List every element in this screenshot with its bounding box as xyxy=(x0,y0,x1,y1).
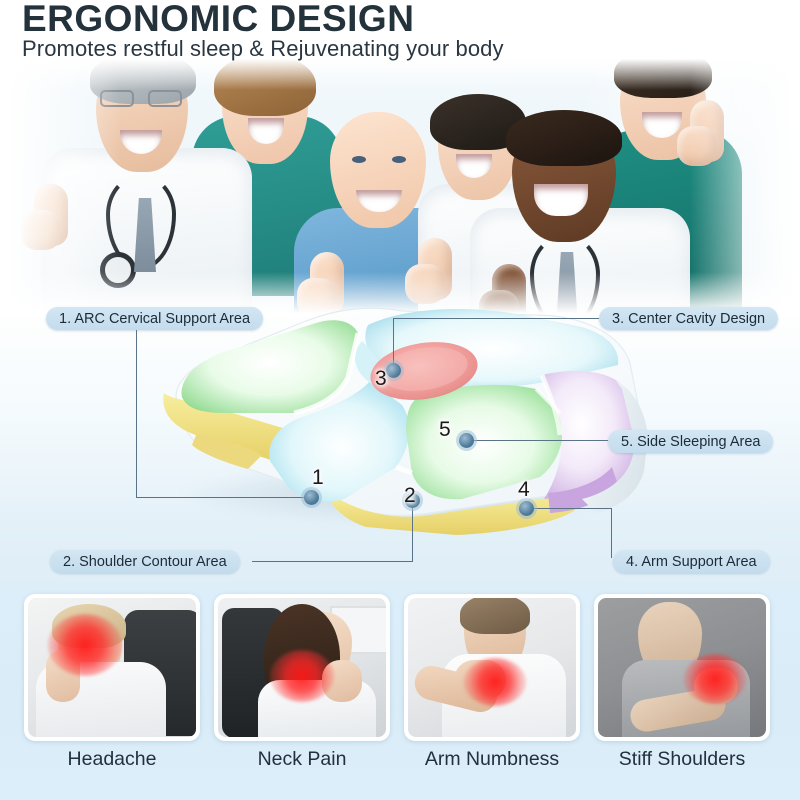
leader-4-vertical xyxy=(611,508,612,558)
marker-3-dot[interactable] xyxy=(386,363,401,378)
symptom-card-headache[interactable] xyxy=(24,594,200,741)
pain-glow-shoulder xyxy=(684,654,746,704)
marker-4-number: 4 xyxy=(518,478,530,502)
symptom-photo-neck-pain xyxy=(218,598,386,737)
marker-5-dot[interactable] xyxy=(459,433,474,448)
symptom-caption-headache: Headache xyxy=(24,748,200,771)
symptom-caption-stiff-shoulders: Stiff Shoulders xyxy=(594,748,770,771)
pain-glow-arm xyxy=(464,658,526,706)
marker-1-dot[interactable] xyxy=(304,490,319,505)
pain-glow-head xyxy=(48,614,122,676)
marker-1-number: 1 xyxy=(312,466,324,490)
symptom-card-neck-pain[interactable] xyxy=(214,594,390,741)
page-title: ERGONOMIC DESIGN xyxy=(22,0,414,40)
page-subtitle: Promotes restful sleep & Rejuvenating yo… xyxy=(22,36,504,62)
symptom-card-arm-numbness[interactable] xyxy=(404,594,580,741)
symptom-photo-arm-numbness xyxy=(408,598,576,737)
leader-4-horizontal xyxy=(532,508,612,509)
marker-4-dot[interactable] xyxy=(519,501,534,516)
symptom-photo-headache xyxy=(28,598,196,737)
leader-5-horizontal xyxy=(471,440,611,441)
callout-label-5[interactable]: 5. Side Sleeping Area xyxy=(608,430,773,453)
callout-label-4[interactable]: 4. Arm Support Area xyxy=(613,550,770,573)
marker-2-number: 2 xyxy=(404,484,416,508)
page-header: ERGONOMIC DESIGN Promotes restful sleep … xyxy=(0,0,800,66)
marker-5-number: 5 xyxy=(439,418,451,442)
callout-label-2[interactable]: 2. Shoulder Contour Area xyxy=(50,550,240,573)
pain-glow-neck xyxy=(270,650,334,702)
hero-photo-medical-team xyxy=(0,56,800,318)
symptom-photo-stiff-shoulders xyxy=(598,598,766,737)
leader-1-vertical xyxy=(136,330,137,498)
symptom-strip: Headache Neck Pain Arm Numbness Stiff Sh… xyxy=(0,590,800,800)
symptom-caption-arm-numbness: Arm Numbness xyxy=(404,748,580,771)
leader-2-vertical xyxy=(412,500,413,562)
symptom-caption-neck-pain: Neck Pain xyxy=(214,748,390,771)
leader-3-horizontal xyxy=(393,318,591,319)
leader-2-horizontal xyxy=(252,561,413,562)
marker-3-number: 3 xyxy=(375,367,387,391)
callout-label-3[interactable]: 3. Center Cavity Design xyxy=(599,307,778,330)
callout-label-1[interactable]: 1. ARC Cervical Support Area xyxy=(46,307,263,330)
leader-1-horizontal xyxy=(136,497,312,498)
symptom-card-stiff-shoulders[interactable] xyxy=(594,594,770,741)
person-hair xyxy=(460,598,530,634)
